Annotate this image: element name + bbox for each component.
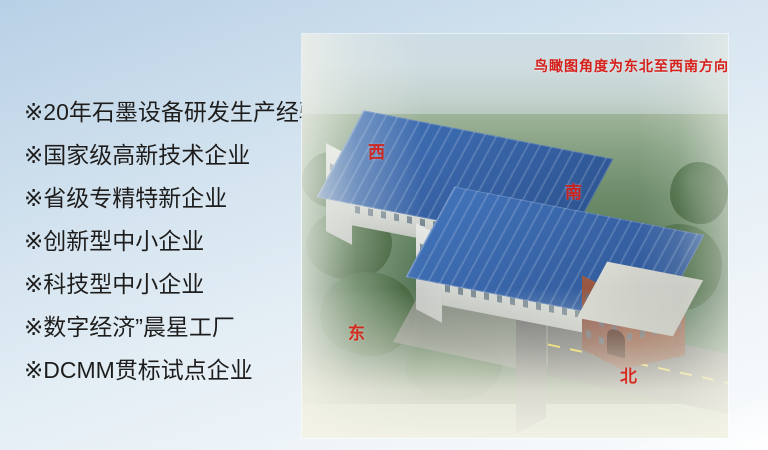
factory-aerial-rendering: 西 南 东 北 鸟瞰图角度为东北至西南方向 (302, 34, 728, 438)
list-item: ※国家级高新技术企业 (24, 141, 302, 169)
list-item: ※创新型中小企业 (24, 227, 302, 255)
compass-marker-east: 东 (348, 319, 365, 344)
list-item: ※省级专精特新企业 (24, 184, 302, 212)
compass-marker-north: 北 (620, 362, 637, 387)
view-direction-note: 鸟瞰图角度为东北至西南方向 (534, 56, 728, 76)
list-item: ※DCMM贯标试点企业 (24, 356, 302, 384)
fog-bottom-overlay (302, 288, 728, 438)
list-item: ※20年石墨设备研发生产经验 (24, 98, 302, 126)
compass-marker-south: 南 (565, 178, 582, 203)
compass-marker-west: 西 (368, 138, 385, 163)
credentials-bullet-list: ※20年石墨设备研发生产经验 ※国家级高新技术企业 ※省级专精特新企业 ※创新型… (24, 98, 302, 399)
slide-canvas: ※20年石墨设备研发生产经验 ※国家级高新技术企业 ※省级专精特新企业 ※创新型… (0, 0, 768, 450)
list-item: ※数字经济”晨星工厂 (24, 313, 302, 341)
list-item: ※科技型中小企业 (24, 270, 302, 298)
